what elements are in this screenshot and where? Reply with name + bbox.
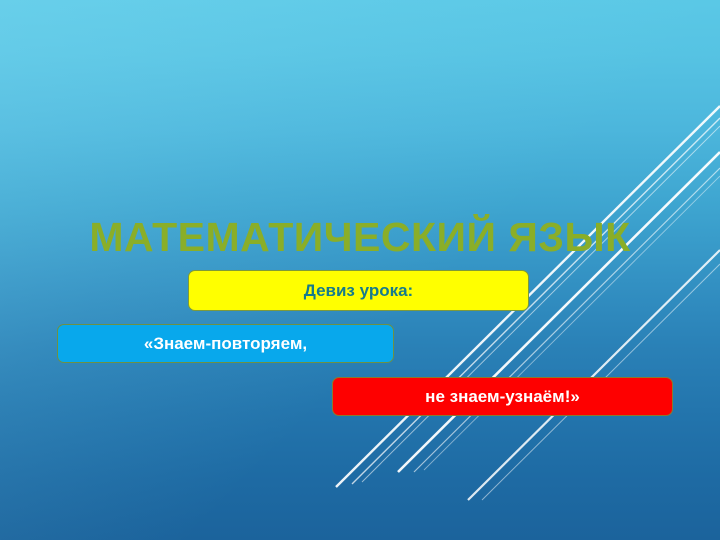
presentation-slide: Математический язык Девиз урока: «Знаем-… <box>0 0 720 540</box>
motto-part-1-box: «Знаем-повторяем, <box>57 324 394 363</box>
motto-label-box: Девиз урока: <box>188 270 529 311</box>
motto-part-2-text: не знаем-узнаём!» <box>425 387 580 407</box>
motto-part-2-box: не знаем-узнаём!» <box>332 377 673 416</box>
page-title: Математический язык <box>0 214 720 260</box>
motto-label-text: Девиз урока: <box>304 281 413 301</box>
motto-part-1-text: «Знаем-повторяем, <box>144 334 307 354</box>
